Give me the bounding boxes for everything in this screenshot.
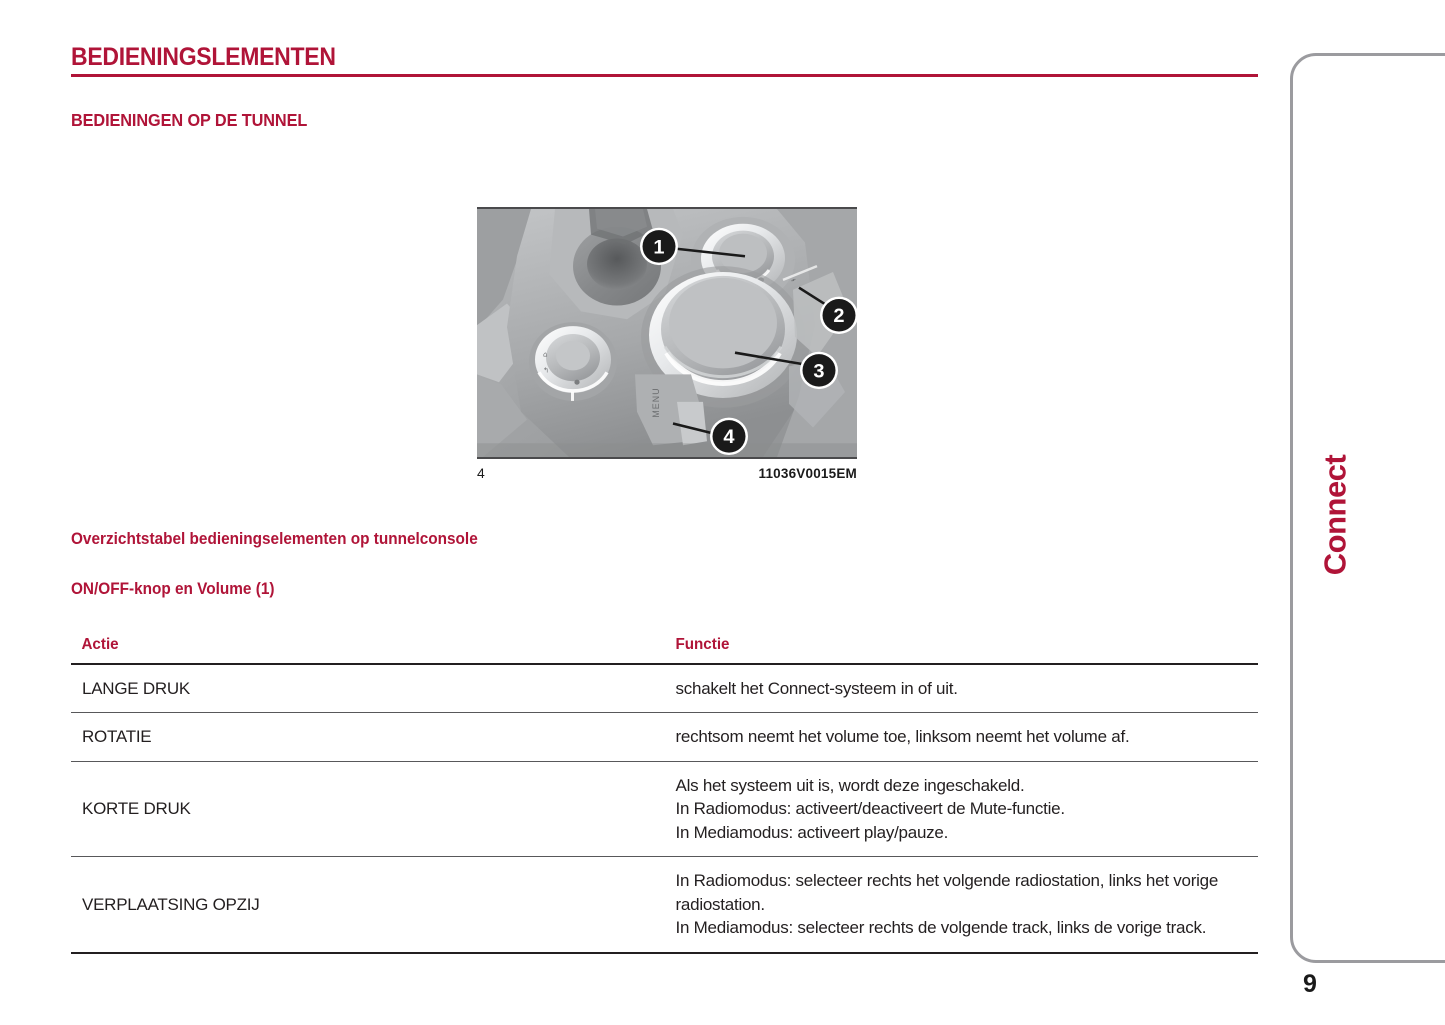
menu-knob-label: MENU [651, 387, 661, 417]
chapter-tab-label-wrap: Connect [1305, 400, 1365, 630]
column-header-action: Actie [71, 636, 635, 664]
function-line: In Mediamodus: activeert play/pauze. [676, 821, 1251, 844]
callout-bubble-2: 2 [820, 297, 857, 334]
page-number: 9 [1303, 970, 1317, 999]
section-heading: BEDIENINGEN OP DE TUNNEL [71, 110, 307, 131]
chapter-tab-label: Connect [1317, 455, 1353, 576]
function-line: rechtsom neemt het volume toe, linksom n… [676, 725, 1251, 748]
page-title: BEDIENINGSLEMENTEN [71, 43, 336, 72]
table-header-row: Actie Functie [71, 636, 1258, 664]
table-row: ROTATIErechtsom neemt het volume toe, li… [71, 713, 1258, 761]
cell-function: In Radiomodus: selecteer rechts het volg… [665, 857, 1259, 953]
svg-text:↰: ↰ [543, 366, 549, 374]
controls-table: Actie Functie LANGE DRUKschakelt het Con… [71, 636, 1258, 954]
svg-text:⌂: ⌂ [543, 351, 547, 359]
table-row: LANGE DRUKschakelt het Connect-systeem i… [71, 664, 1258, 713]
figure-code: 11036V0015EM [759, 466, 857, 481]
table-row: VERPLAATSING OPZIJIn Radiomodus: selecte… [71, 857, 1258, 953]
title-divider [71, 74, 1258, 77]
figure-caption: 4 11036V0015EM [477, 465, 857, 481]
table-row: KORTE DRUKAls het systeem uit is, wordt … [71, 761, 1258, 856]
cell-function: rechtsom neemt het volume toe, linksom n… [665, 713, 1259, 761]
manual-page: BEDIENINGSLEMENTEN BEDIENINGEN OP DE TUN… [0, 0, 1445, 1025]
cell-action: ROTATIE [71, 713, 665, 761]
console-figure: ⌂ ↰ MENU [477, 207, 857, 459]
svg-text:4: 4 [723, 426, 734, 448]
table-body: LANGE DRUKschakelt het Connect-systeem i… [71, 664, 1258, 953]
function-line: Als het systeem uit is, wordt deze inges… [676, 774, 1251, 797]
cell-action: LANGE DRUK [71, 664, 665, 713]
figure-number: 4 [477, 465, 485, 481]
svg-text:2: 2 [833, 305, 844, 327]
function-line: schakelt het Connect-systeem in of uit. [676, 677, 1251, 700]
overview-table-heading: Overzichtstabel bedieningselementen op t… [71, 530, 478, 549]
callout-bubble-4: 4 [710, 418, 748, 455]
column-header-function: Functie [665, 636, 1229, 664]
function-line: In Mediamodus: selecteer rechts de volge… [676, 916, 1251, 939]
console-photo: ⌂ ↰ MENU [477, 207, 857, 459]
svg-text:1: 1 [653, 236, 664, 258]
svg-text:3: 3 [813, 360, 824, 382]
function-line: In Radiomodus: selecteer rechts het volg… [676, 869, 1251, 916]
cell-action: VERPLAATSING OPZIJ [71, 857, 665, 953]
subsection-heading: ON/OFF-knop en Volume (1) [71, 580, 274, 599]
function-line: In Radiomodus: activeert/deactiveert de … [676, 797, 1251, 820]
cell-function: schakelt het Connect-systeem in of uit. [665, 664, 1259, 713]
callout-bubble-3: 3 [800, 352, 838, 389]
cell-function: Als het systeem uit is, wordt deze inges… [665, 761, 1259, 856]
callout-bubble-1: 1 [640, 228, 678, 265]
cell-action: KORTE DRUK [71, 761, 665, 856]
